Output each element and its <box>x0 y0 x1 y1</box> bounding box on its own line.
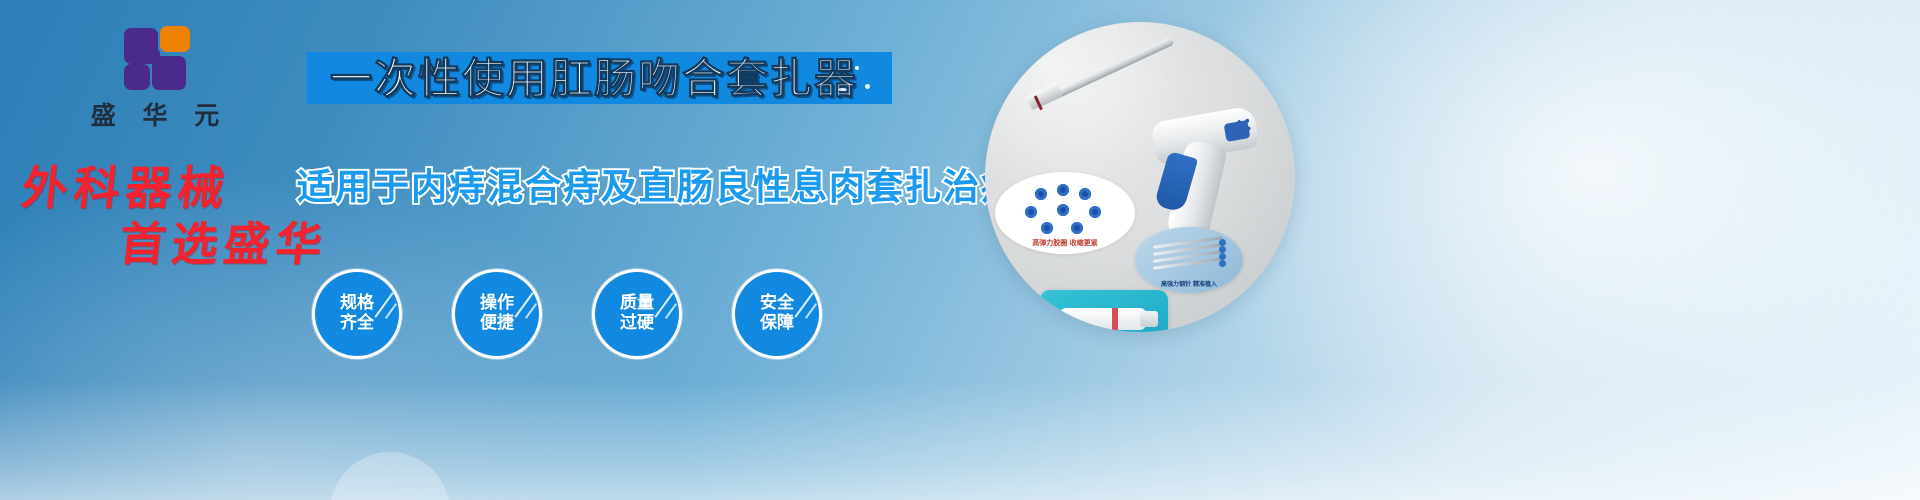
rubber-ring-icon <box>1035 188 1047 200</box>
rubber-ring-icon <box>1089 206 1101 218</box>
page-title: 一次性使用肛肠吻合套扎器 <box>330 55 890 103</box>
promo-banner: 盛 华 元 外科器械 首选盛华 一次性使用肛肠吻合套扎器 适用于内痔混合痔及直肠… <box>0 0 1920 500</box>
cartridge-inset <box>1040 290 1168 332</box>
device-control-dots-icon <box>1236 117 1257 136</box>
sparkle-icon-1 <box>855 66 859 70</box>
brand-logo[interactable]: 盛 华 元 <box>60 24 250 132</box>
slogan-line-2: 首选盛华 <box>117 208 332 274</box>
brand-name: 盛 华 元 <box>60 96 250 132</box>
rings-caption: 高弹力胶圈 收缩更紧 <box>995 238 1135 248</box>
sparkle-icon-2 <box>838 88 847 91</box>
needle-knob-icon <box>1219 260 1226 267</box>
shenghuayuan-logo-icon <box>110 24 200 92</box>
rubber-rings-inset: 高弹力胶圈 收缩更紧 <box>995 172 1135 254</box>
needles-caption: 高强力钢针 精准植入 <box>1135 279 1243 288</box>
rubber-ring-icon <box>1057 204 1069 216</box>
decorative-circle <box>330 452 450 500</box>
feature-badge[interactable]: 规格 齐全 <box>312 269 402 359</box>
logo-block-orange <box>160 26 190 52</box>
bottom-fade <box>0 380 1920 500</box>
feature-badge-list: 规格 齐全 操作 便捷 质量 过硬 安全 保障 <box>312 269 872 364</box>
logo-block-bottom-left <box>124 64 150 90</box>
needles-inset: 高强力钢针 精准植入 <box>1135 227 1243 293</box>
rubber-ring-icon <box>1057 184 1069 196</box>
feature-badge[interactable]: 操作 便捷 <box>452 269 542 359</box>
logo-block-bottom-right <box>152 56 186 90</box>
cartridge-body <box>1060 308 1146 330</box>
feature-badge[interactable]: 质量 过硬 <box>592 269 682 359</box>
rubber-ring-icon <box>1025 206 1037 218</box>
sparkle-icon-3 <box>865 84 870 89</box>
product-photo[interactable]: 高弹力胶圈 收缩更紧 高强力钢针 精准植入 <box>985 22 1295 332</box>
rubber-ring-icon <box>1041 222 1053 234</box>
needle-knob-icon <box>1219 246 1226 253</box>
subtitle: 适用于内痔混合痔及直肠良性息肉套扎治疗 <box>297 158 1019 210</box>
feature-badge[interactable]: 安全 保障 <box>732 269 822 359</box>
needle-knob-icon <box>1219 239 1226 246</box>
rubber-ring-icon <box>1079 188 1091 200</box>
cartridge-tail <box>1140 311 1158 327</box>
needle-knob-icon <box>1219 253 1226 260</box>
cartridge-marker <box>1112 308 1118 330</box>
rubber-ring-icon <box>1071 222 1083 234</box>
